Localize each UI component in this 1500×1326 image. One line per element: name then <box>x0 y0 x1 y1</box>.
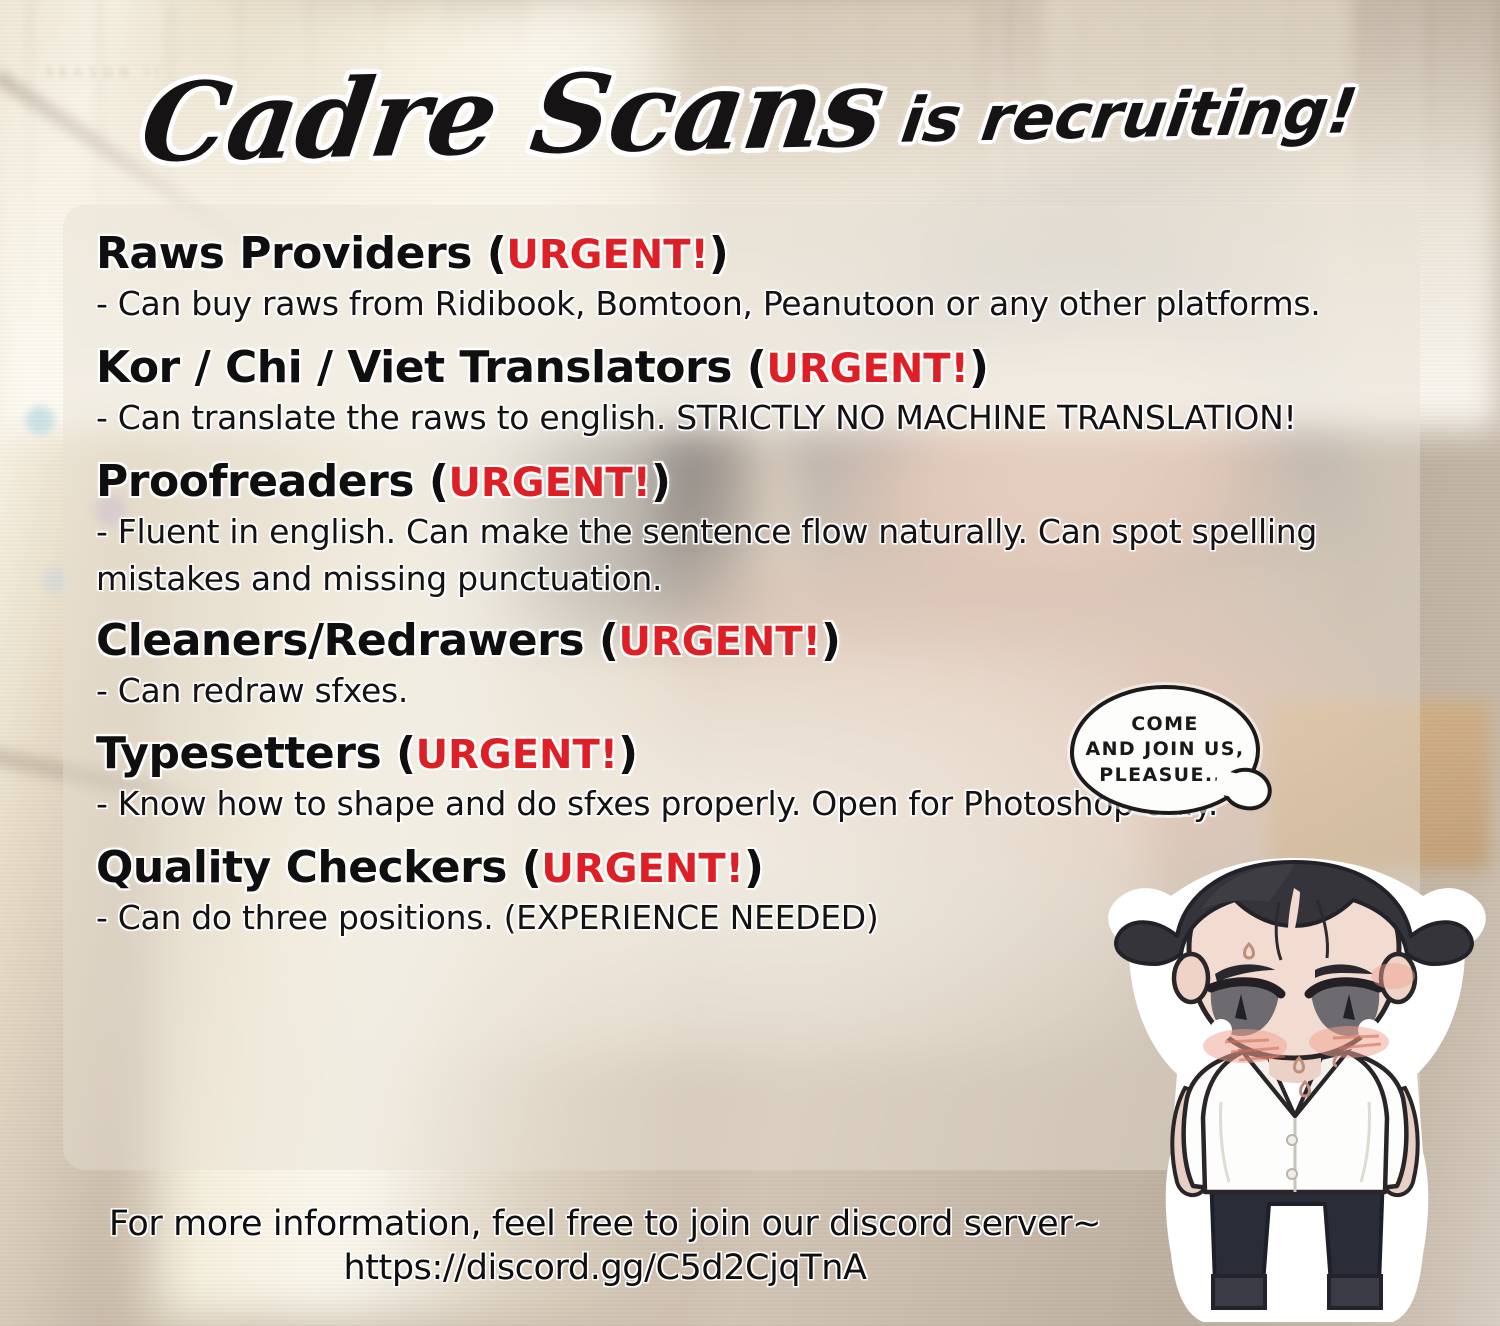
title-tagline: is recruiting! <box>898 80 1361 151</box>
role-description: - Fluent in english. Can make the senten… <box>96 509 1396 603</box>
paren-open: ( <box>396 728 416 779</box>
paren-open: ( <box>429 456 449 507</box>
paren-close: ) <box>744 842 764 893</box>
role-title: Typesetters <box>96 728 381 779</box>
role-heading: Raws Providers (URGENT!) <box>96 228 1396 279</box>
urgent-badge: URGENT! <box>618 619 820 665</box>
role-title: Proofreaders <box>96 456 414 507</box>
role-listings: Raws Providers (URGENT!) - Can buy raws … <box>96 228 1396 942</box>
paren-close: ) <box>969 342 989 393</box>
recruitment-poster: Define The Relationship SEASON II Cadre … <box>0 0 1500 1326</box>
discord-link[interactable]: https://discord.gg/C5d2CjqTnA <box>0 1246 1210 1290</box>
paren-close: ) <box>821 615 841 666</box>
footer-line-1: For more information, feel free to join … <box>0 1202 1210 1246</box>
paren-close: ) <box>709 228 729 279</box>
urgent-badge: URGENT! <box>448 460 650 506</box>
paren-open: ( <box>599 615 619 666</box>
paren-open: ( <box>522 842 542 893</box>
role-heading: Proofreaders (URGENT!) <box>96 456 1396 507</box>
paren-open: ( <box>487 228 507 279</box>
speech-bubble-tail-join <box>1214 770 1244 799</box>
paren-close: ) <box>618 728 638 779</box>
watermark-title: Define The Relationship <box>45 22 536 46</box>
listing-item: Kor / Chi / Viet Translators (URGENT!) -… <box>96 342 1396 442</box>
urgent-badge: URGENT! <box>416 732 618 778</box>
footer-contact: For more information, feel free to join … <box>0 1202 1210 1290</box>
urgent-badge: URGENT! <box>506 232 708 278</box>
role-heading: Kor / Chi / Viet Translators (URGENT!) <box>96 342 1396 393</box>
role-heading: Cleaners/Redrawers (URGENT!) <box>96 615 1396 666</box>
bubble-line-1: COME <box>1086 712 1245 737</box>
brand-name: Cadre Scans <box>136 54 890 177</box>
role-title: Cleaners/Redrawers <box>96 615 584 666</box>
role-title: Kor / Chi / Viet Translators <box>96 342 732 393</box>
role-title: Raws Providers <box>96 228 472 279</box>
role-description: - Can translate the raws to english. STR… <box>96 395 1396 442</box>
listing-item: Raws Providers (URGENT!) - Can buy raws … <box>96 228 1396 328</box>
urgent-badge: URGENT! <box>766 346 968 392</box>
poster-title: Cadre Scans is recruiting! <box>0 46 1500 186</box>
listing-item: Proofreaders (URGENT!) - Fluent in engli… <box>96 456 1396 603</box>
role-title: Quality Checkers <box>96 842 507 893</box>
urgent-badge: URGENT! <box>541 846 743 892</box>
role-description: - Can buy raws from Ridibook, Bomtoon, P… <box>96 281 1396 328</box>
paren-close: ) <box>651 456 671 507</box>
bubble-line-2: AND JOIN US, <box>1086 737 1245 762</box>
paren-open: ( <box>747 342 767 393</box>
